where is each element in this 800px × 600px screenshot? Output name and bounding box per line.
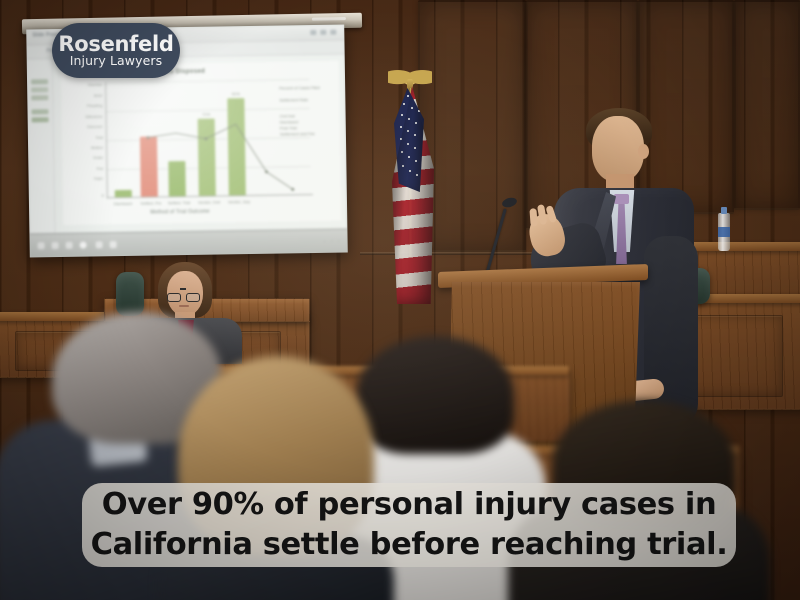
slide-thumbnail-sidebar[interactable]	[27, 59, 56, 233]
eagle-finial-icon	[388, 62, 432, 90]
y-tick-label: Dismiss	[88, 82, 102, 87]
glasses-bridge	[180, 288, 186, 290]
exit-icon[interactable]	[110, 241, 117, 248]
x-tick-label: Verdict, Civil	[198, 199, 220, 204]
slide-thumbnail[interactable]	[31, 87, 48, 92]
y-tick-label: Order	[93, 155, 103, 160]
x-tick-label: Settled, Trial	[168, 200, 190, 205]
chart-x-axis-label: Method of Trial Outcome	[107, 208, 253, 216]
face	[592, 116, 644, 182]
play-icon[interactable]	[80, 242, 87, 249]
courtroom-scene: Slide Presentation Percentage of Cases D…	[0, 0, 800, 600]
chart-plot-area: Dismiss Brief Pleading Milestone Discove…	[105, 80, 253, 198]
y-tick-label: Motion	[91, 145, 103, 150]
slide-thumbnail[interactable]	[31, 79, 48, 84]
caption-line-1: Over 90% of personal injury cases in	[102, 485, 717, 525]
minimize-icon[interactable]	[310, 30, 316, 35]
wall-panel	[734, 0, 800, 210]
caption-line-2: California settle before reaching trial.	[91, 525, 728, 565]
eyeglasses-icon	[167, 293, 181, 302]
legend-item: Percent of Cases Filed	[279, 85, 335, 92]
maximize-icon[interactable]	[320, 30, 326, 35]
slide-thumbnail[interactable]	[31, 95, 48, 100]
eyeglasses-icon	[186, 293, 200, 302]
slide-canvas: Percentage of Cases Disposed Dismiss Bri…	[53, 55, 348, 234]
y-tick-label: Discover	[87, 124, 103, 129]
pen-icon[interactable]	[96, 241, 103, 248]
pin-icon[interactable]	[52, 242, 59, 249]
brand-name: Rosenfeld	[58, 34, 173, 54]
tie-knot	[614, 194, 629, 204]
x-tick-label: Verdict, Jury	[228, 199, 250, 204]
y-tick-label: Trial+	[94, 176, 104, 181]
chart-container: Percentage of Cases Disposed Dismiss Bri…	[61, 61, 341, 225]
y-tick-label: Fee	[96, 166, 103, 171]
water-bottle	[718, 213, 730, 251]
american-flag	[382, 62, 442, 312]
slide-thumbnail[interactable]	[31, 109, 48, 114]
mouth	[179, 305, 189, 307]
grid-icon[interactable]	[66, 242, 73, 249]
ear	[638, 144, 649, 159]
taskbar-overflow[interactable]: · · ·	[324, 239, 342, 245]
x-tick-label: Settled, Pre	[140, 200, 161, 205]
brand-tagline: Injury Lawyers	[70, 54, 163, 68]
y-tick-label: Trial	[95, 134, 103, 139]
x-tick-label: Dismissed	[114, 201, 133, 206]
brand-logo-badge: Rosenfeld Injury Lawyers	[52, 23, 180, 78]
slide-thumbnail[interactable]	[32, 117, 49, 122]
y-tick-label: Pleading	[87, 103, 103, 108]
y-tick-label: Milestone	[85, 113, 102, 118]
chart-trend-line	[105, 79, 307, 198]
close-icon[interactable]	[330, 30, 336, 35]
chart-legend: Percent of Cases Filed Settlement Rate C…	[279, 85, 336, 138]
taskbar[interactable]: · · ·	[29, 228, 347, 257]
legend-item: Settlement and Fee	[280, 131, 336, 138]
y-tick-label: Brief	[94, 93, 102, 98]
phone-icon[interactable]	[38, 242, 45, 249]
caption-banner: Over 90% of personal injury cases in Cal…	[82, 483, 736, 567]
y-tick-label: 0	[102, 192, 104, 197]
legend-item: Settlement Rate	[279, 97, 335, 104]
face	[167, 271, 203, 316]
